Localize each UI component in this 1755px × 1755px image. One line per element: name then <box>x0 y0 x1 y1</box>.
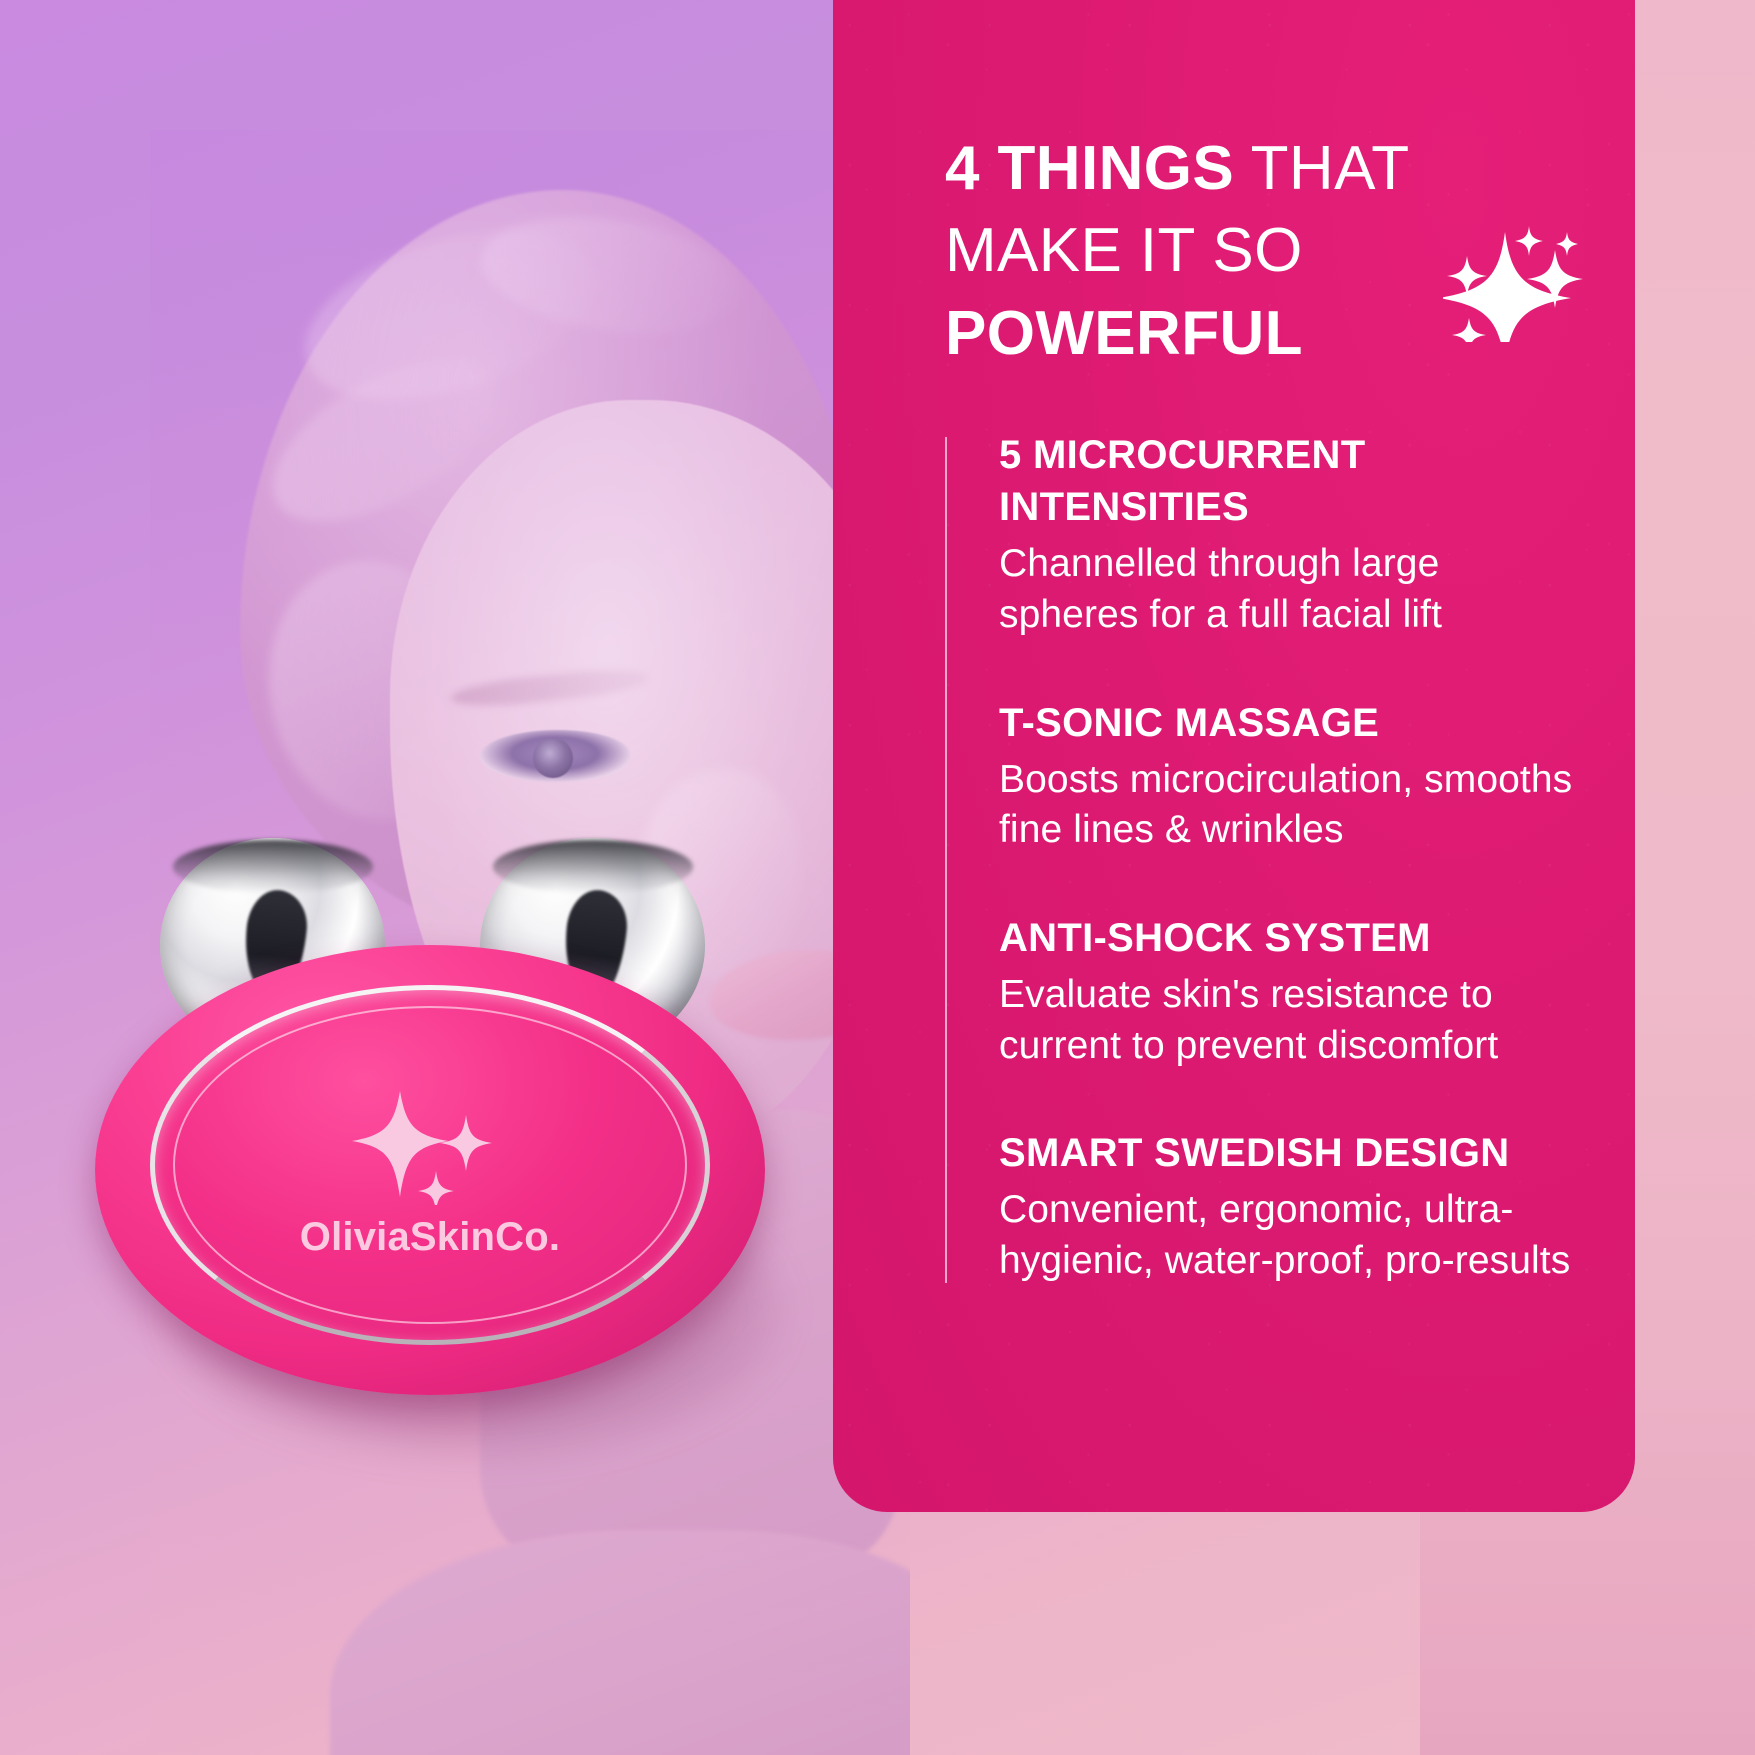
feature-body: Channelled through large spheres for a f… <box>999 539 1585 640</box>
heading-line-1: 4 THINGS THAT <box>945 128 1585 210</box>
feature-list: 5 MICROCURRENT INTENSITIES Channelled th… <box>945 429 1585 1287</box>
feature-item: ANTI-SHOCK SYSTEM Evaluate skin's resist… <box>999 912 1585 1071</box>
feature-item: 5 MICROCURRENT INTENSITIES Channelled th… <box>999 429 1585 640</box>
device-brand-label: OliviaSkinCo. <box>95 1215 765 1260</box>
sphere-highlight-left <box>173 840 373 894</box>
feature-body: Boosts microcirculation, smooths fine li… <box>999 755 1585 856</box>
feature-title: SMART SWEDISH DESIGN <box>999 1127 1585 1179</box>
promo-poster: OliviaSkinCo. 4 THINGS THAT MAKE IT SO P… <box>0 0 1755 1755</box>
panel-heading: 4 THINGS THAT MAKE IT SO POWERFUL <box>945 128 1585 375</box>
sphere-highlight-right <box>493 840 693 894</box>
heading-powerful: POWERFUL <box>945 299 1303 368</box>
feature-body: Evaluate skin's resistance to current to… <box>999 970 1585 1071</box>
info-panel: 4 THINGS THAT MAKE IT SO POWERFUL <box>833 0 1635 1512</box>
heading-line-1-rest: THAT <box>1234 134 1409 203</box>
feature-body: Convenient, ergonomic, ultra-hygienic, w… <box>999 1185 1585 1286</box>
feature-title: T-SONIC MASSAGE <box>999 697 1585 749</box>
feature-item: T-SONIC MASSAGE Boosts microcirculation,… <box>999 697 1585 856</box>
heading-count: 4 THINGS <box>945 134 1234 203</box>
feature-title: ANTI-SHOCK SYSTEM <box>999 912 1585 964</box>
product-device: OliviaSkinCo. <box>95 830 775 1470</box>
feature-item: SMART SWEDISH DESIGN Convenient, ergonom… <box>999 1127 1585 1286</box>
sparkle-icon <box>340 1085 510 1205</box>
feature-title: 5 MICROCURRENT INTENSITIES <box>999 429 1585 533</box>
sparkle-cluster-icon <box>1443 214 1593 342</box>
